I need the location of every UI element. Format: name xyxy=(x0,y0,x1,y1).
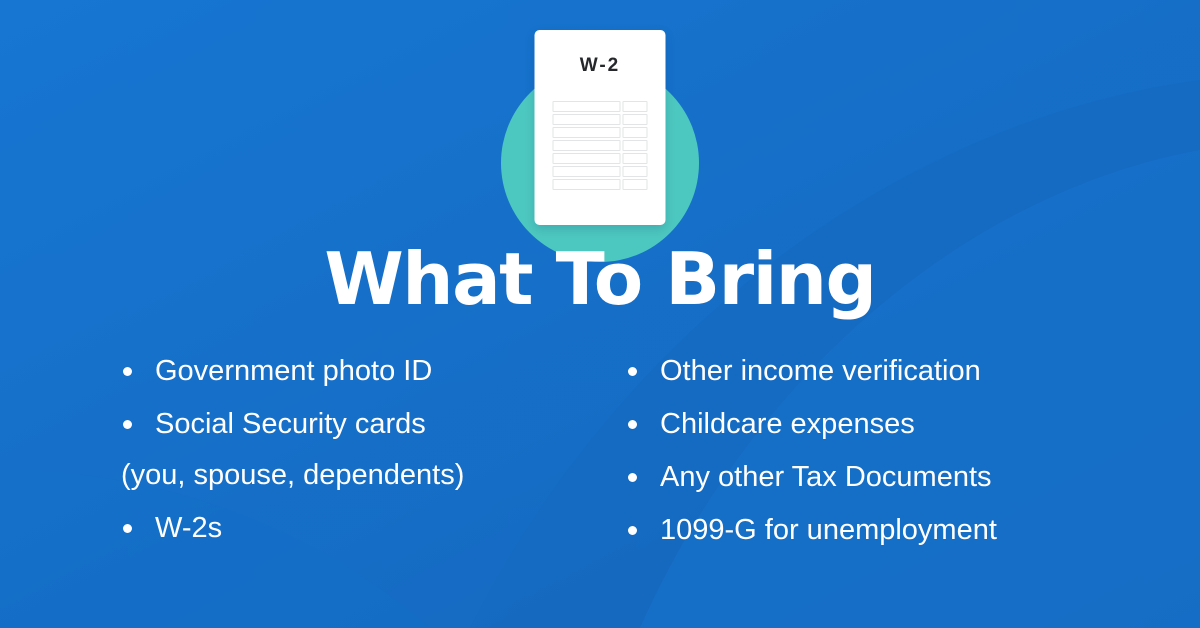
table-cell xyxy=(622,101,647,112)
hero-illustration: W-2 xyxy=(0,26,1200,231)
table-cell xyxy=(622,166,647,177)
list-item-sublabel: (you, spouse, dependents) xyxy=(121,461,605,490)
page-title: What To Bring xyxy=(0,243,1200,315)
table-cell xyxy=(553,153,621,164)
list-item: Social Security cards (you, spouse, depe… xyxy=(113,410,605,490)
checklist-left-list: Government photo ID Social Security card… xyxy=(113,357,605,543)
table-cell xyxy=(553,101,621,112)
table-row xyxy=(553,153,648,164)
table-cell xyxy=(622,179,647,190)
bullet-icon xyxy=(123,367,132,376)
table-cell xyxy=(622,153,647,164)
table-cell xyxy=(553,114,621,125)
list-item-label: W-2s xyxy=(155,512,222,544)
checklist-column-right: Other income verification Childcare expe… xyxy=(605,357,1200,569)
w2-document-icon: W-2 xyxy=(535,30,666,225)
checklist-column-left: Government photo ID Social Security card… xyxy=(0,357,605,569)
bullet-icon xyxy=(628,420,637,429)
list-item-label: Social Security cards xyxy=(155,408,426,440)
table-row xyxy=(553,127,648,138)
what-to-bring-graphic: W-2 xyxy=(0,0,1200,628)
list-item: W-2s xyxy=(113,514,605,543)
list-item: Government photo ID xyxy=(113,357,605,386)
list-item: Other income verification xyxy=(618,357,1200,386)
table-cell xyxy=(553,140,621,151)
bullet-icon xyxy=(628,526,637,535)
bullet-icon xyxy=(628,367,637,376)
list-item-label: Other income verification xyxy=(660,355,981,387)
table-row xyxy=(553,166,648,177)
table-cell xyxy=(553,127,621,138)
list-item: 1099-G for unemployment xyxy=(618,516,1200,545)
list-item-label: Any other Tax Documents xyxy=(660,461,992,493)
table-row xyxy=(553,101,648,112)
bullet-icon xyxy=(123,524,132,533)
w2-table-grid xyxy=(553,101,648,190)
list-item-label: Childcare expenses xyxy=(660,408,915,440)
bullet-icon xyxy=(123,420,132,429)
checklist: Government photo ID Social Security card… xyxy=(0,357,1200,569)
w2-label: W-2 xyxy=(580,56,620,75)
list-item-label: 1099-G for unemployment xyxy=(660,514,997,546)
table-row xyxy=(553,114,648,125)
table-cell xyxy=(622,140,647,151)
table-cell xyxy=(553,179,621,190)
table-cell xyxy=(553,166,621,177)
bullet-icon xyxy=(628,473,637,482)
list-item: Any other Tax Documents xyxy=(618,463,1200,492)
table-row xyxy=(553,140,648,151)
list-item-label: Government photo ID xyxy=(155,355,432,387)
checklist-right-list: Other income verification Childcare expe… xyxy=(618,357,1200,545)
list-item: Childcare expenses xyxy=(618,410,1200,439)
table-cell xyxy=(622,114,647,125)
table-cell xyxy=(622,127,647,138)
table-row xyxy=(553,179,648,190)
